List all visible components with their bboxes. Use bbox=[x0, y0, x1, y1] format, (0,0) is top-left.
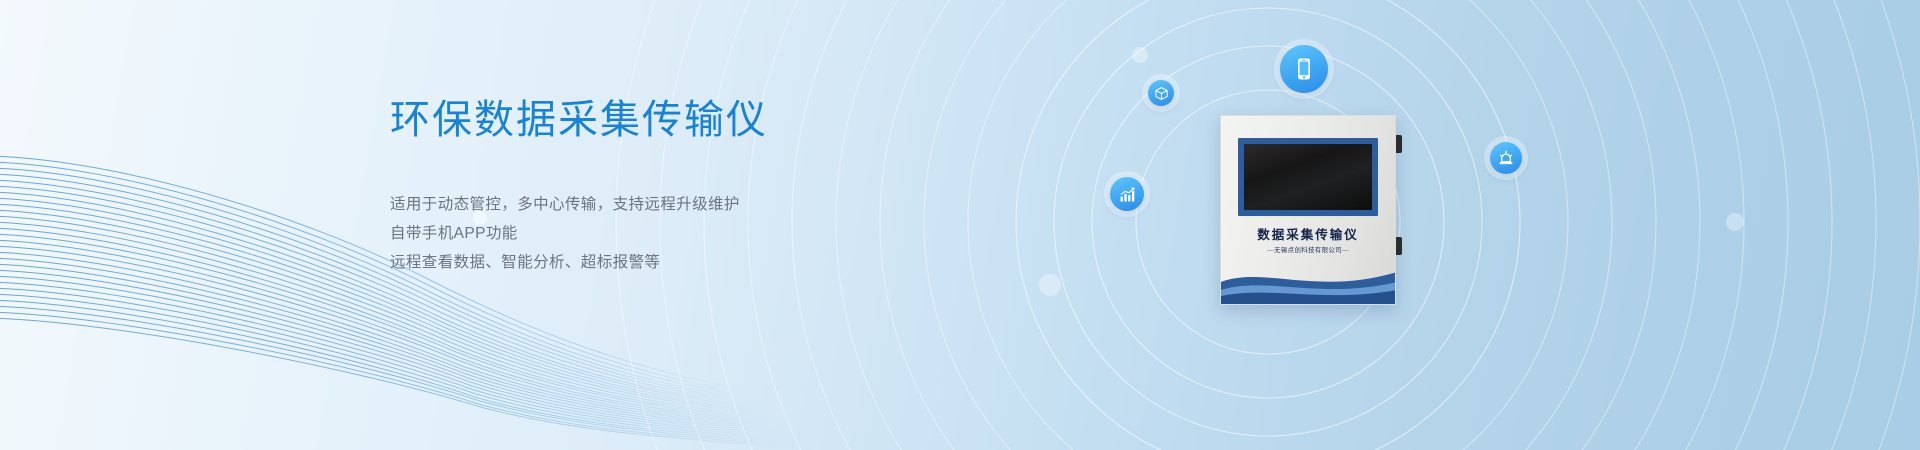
bar-chart-icon bbox=[1118, 185, 1137, 204]
smartphone-icon-bubble bbox=[1280, 45, 1328, 93]
device-screen-frame bbox=[1238, 138, 1378, 216]
page-title: 环保数据采集传输仪 bbox=[390, 96, 950, 144]
cube-icon-bubble bbox=[1148, 80, 1174, 106]
bar-chart-icon-bubble bbox=[1110, 177, 1144, 211]
alarm-siren-icon-bubble bbox=[1490, 142, 1522, 174]
alarm-siren-icon bbox=[1497, 149, 1515, 167]
feature-item: 自带手机APP功能 bbox=[390, 219, 950, 248]
smartphone-icon bbox=[1292, 57, 1316, 81]
feature-item: 远程查看数据、智能分析、超标报警等 bbox=[390, 248, 950, 277]
device-title-label: 数据采集传输仪 bbox=[1221, 224, 1395, 243]
data-acquisition-device: 数据采集传输仪 —无锡点创科技有限公司— bbox=[1220, 115, 1396, 305]
device-body: 数据采集传输仪 —无锡点创科技有限公司— bbox=[1220, 115, 1396, 305]
device-wave-graphic bbox=[1221, 256, 1396, 304]
feature-item: 适用于动态管控，多中心传输，支持远程升级维护 bbox=[390, 190, 950, 219]
product-illustration: 数据采集传输仪 —无锡点创科技有限公司— bbox=[1100, 0, 1660, 450]
device-screen bbox=[1244, 144, 1372, 210]
feature-list: 适用于动态管控，多中心传输，支持远程升级维护 自带手机APP功能 远程查看数据、… bbox=[390, 190, 950, 277]
cube-icon bbox=[1154, 86, 1169, 101]
device-brand-label: —无锡点创科技有限公司— bbox=[1221, 244, 1395, 254]
product-banner: 环保数据采集传输仪 适用于动态管控，多中心传输，支持远程升级维护 自带手机APP… bbox=[0, 0, 1920, 450]
banner-copy: 环保数据采集传输仪 适用于动态管控，多中心传输，支持远程升级维护 自带手机APP… bbox=[390, 96, 950, 277]
